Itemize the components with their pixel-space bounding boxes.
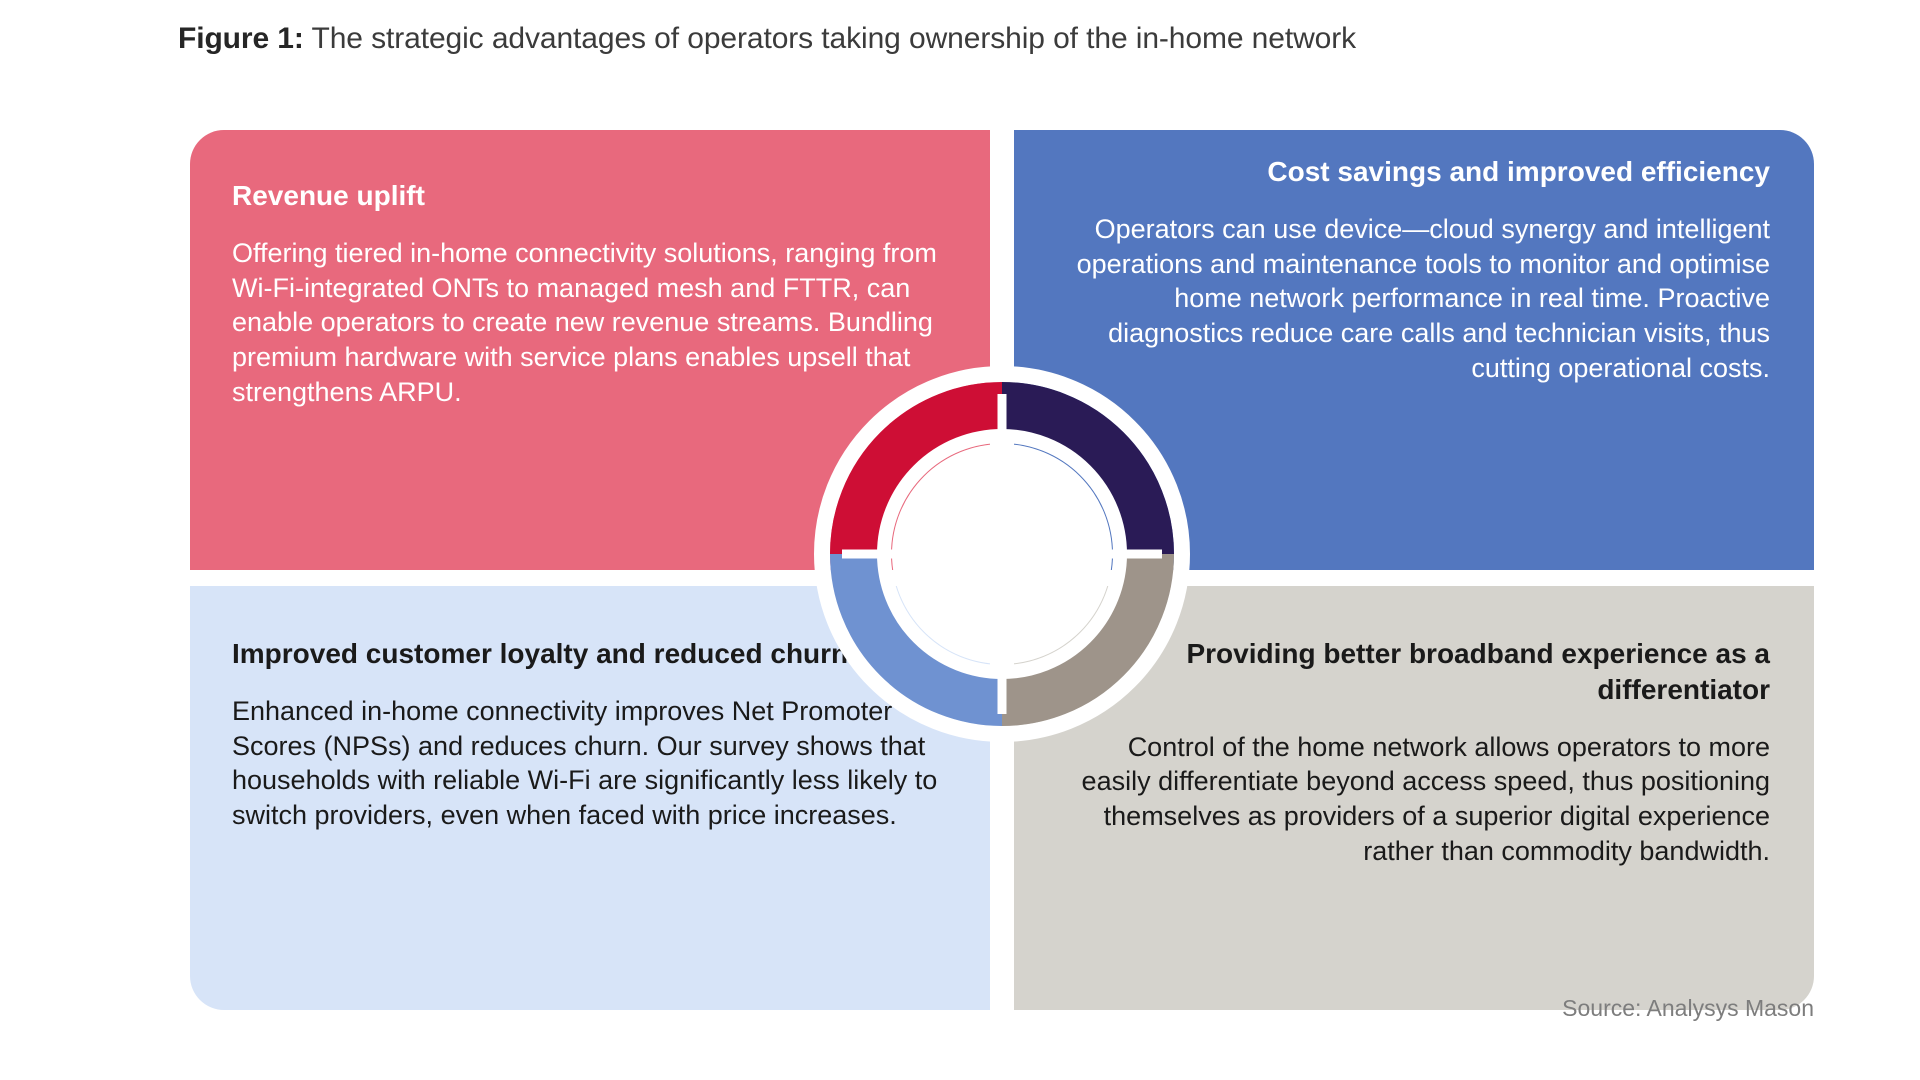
quadrant-broadband-experience-title: Providing better broadband experience as…: [1058, 636, 1770, 708]
quadrant-broadband-experience: Providing better broadband experience as…: [1014, 586, 1814, 1010]
quadrant-customer-loyalty-content: Improved customer loyalty and reduced ch…: [232, 636, 944, 833]
figure-caption: Figure 1: The strategic advantages of op…: [178, 22, 1356, 56]
quadrant-cost-savings: Cost savings and improved efficiency Ope…: [1014, 130, 1814, 570]
figure-container: Figure 1: The strategic advantages of op…: [0, 0, 1920, 1080]
quadrant-cost-savings-body: Operators can use device—cloud synergy a…: [1058, 212, 1770, 386]
quadrant-revenue-uplift-title: Revenue uplift: [232, 178, 944, 214]
figure-caption-text: The strategic advantages of operators ta…: [304, 22, 1356, 55]
quadrant-customer-loyalty-title: Improved customer loyalty and reduced ch…: [232, 636, 944, 672]
quadrant-revenue-uplift: Revenue uplift Offering tiered in-home c…: [190, 130, 990, 570]
quadrant-cost-savings-title: Cost savings and improved efficiency: [1058, 154, 1770, 190]
quadrant-customer-loyalty-body: Enhanced in-home connectivity improves N…: [232, 694, 944, 833]
quadrant-broadband-experience-content: Providing better broadband experience as…: [1058, 636, 1770, 869]
quadrant-customer-loyalty: Improved customer loyalty and reduced ch…: [190, 586, 990, 1010]
quadrant-broadband-experience-body: Control of the home network allows opera…: [1058, 730, 1770, 869]
quadrant-revenue-uplift-content: Revenue uplift Offering tiered in-home c…: [232, 178, 944, 410]
quadrant-cost-savings-content: Cost savings and improved efficiency Ope…: [1058, 154, 1770, 386]
figure-caption-label: Figure 1:: [178, 22, 304, 55]
source-note: Source: Analysys Mason: [1562, 995, 1814, 1022]
quadrant-grid: Revenue uplift Offering tiered in-home c…: [190, 130, 1814, 1010]
quadrant-revenue-uplift-body: Offering tiered in-home connectivity sol…: [232, 236, 944, 410]
